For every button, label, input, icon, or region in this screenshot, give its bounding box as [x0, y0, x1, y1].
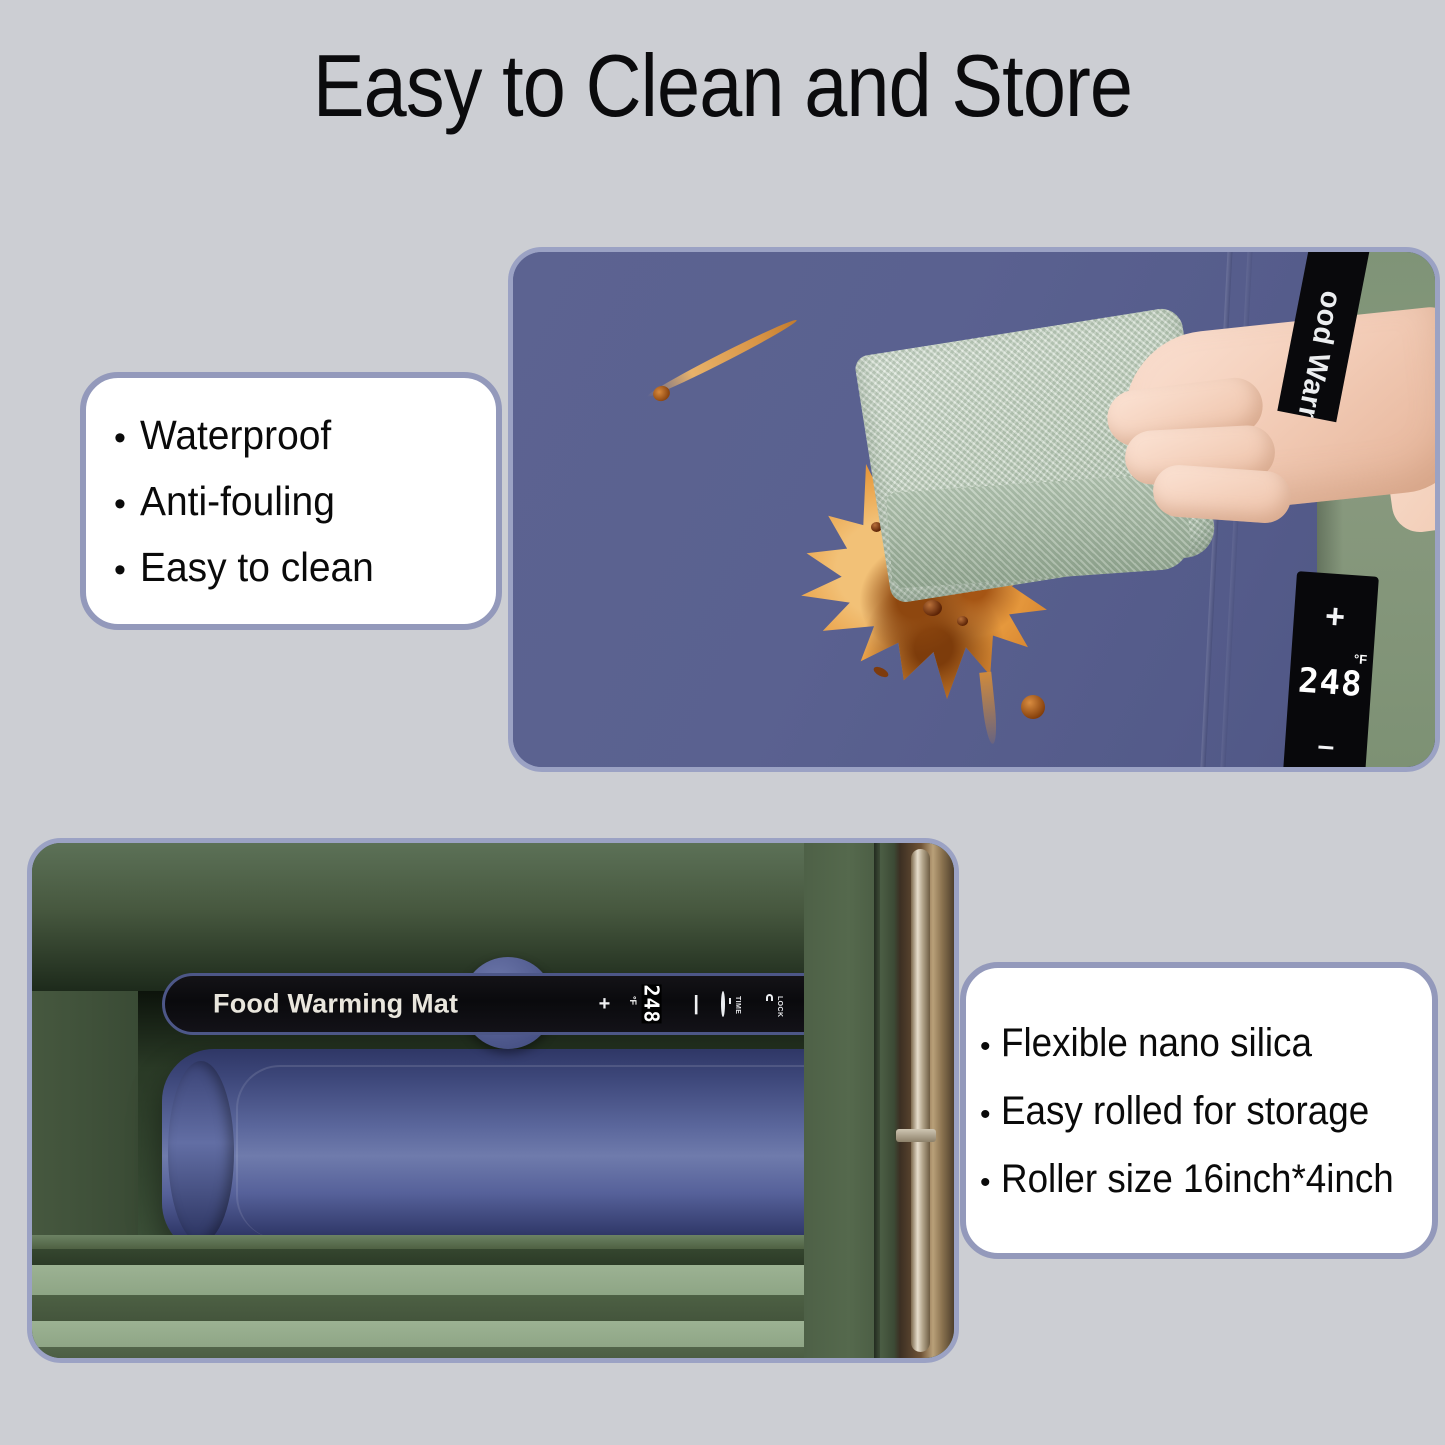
cabinet-door[interactable] — [804, 843, 954, 1358]
roll-end-cap — [168, 1061, 234, 1243]
bullet-icon: • — [114, 421, 126, 455]
page-title: Easy to Clean and Store — [87, 34, 1359, 138]
temperature-display-group: °F 248 — [632, 994, 671, 1014]
lock-icon: LOCK — [763, 994, 783, 1014]
temperature-display: 248 — [1292, 663, 1368, 702]
storage-photo: Food Warming Mat + °F 248 | TIME LOCK — [27, 838, 959, 1363]
list-item: • Roller size 16inch*4inch — [980, 1156, 1422, 1202]
splash-speck — [923, 600, 942, 616]
product-name-label: Food Warming Mat — [213, 989, 458, 1020]
temperature-display: 248 — [642, 984, 662, 1023]
clock-icon: TIME — [721, 994, 741, 1014]
timer-label: TIME — [734, 996, 741, 1014]
lock-button[interactable]: LOCK — [763, 994, 783, 1014]
bullet-icon: • — [114, 487, 126, 521]
splash-droplet — [1021, 695, 1045, 719]
cabinet-handle[interactable] — [911, 849, 930, 1352]
list-item: • Flexible nano silica — [980, 1020, 1422, 1066]
feature-label: Roller size 16inch*4inch — [1001, 1156, 1394, 1202]
feature-label: Anti-fouling — [140, 478, 335, 524]
features-storage-card: • Flexible nano silica • Easy rolled for… — [960, 962, 1438, 1259]
device-label-text: ood Warm — [1287, 288, 1347, 422]
temperature-unit: °F — [1353, 651, 1367, 667]
bullet-icon: • — [114, 553, 126, 587]
bullet-icon: • — [980, 1168, 991, 1198]
features-clean-card: • Waterproof • Anti-fouling • Easy to cl… — [80, 372, 502, 630]
increase-temperature-button[interactable]: + — [1293, 597, 1377, 637]
decrease-temperature-button[interactable]: – — [1284, 727, 1368, 767]
cleaning-demo-photo: ood Warm + 248 °F – — [508, 247, 1440, 772]
list-item: • Waterproof — [114, 412, 480, 458]
list-item: • Easy rolled for storage — [980, 1088, 1422, 1134]
timer-button[interactable]: TIME — [721, 994, 741, 1014]
control-icon-group[interactable]: + °F 248 | TIME LOCK — [599, 976, 825, 1032]
list-item: • Anti-fouling — [114, 478, 480, 524]
bullet-icon: • — [980, 1100, 991, 1130]
feature-label: Easy rolled for storage — [1001, 1088, 1369, 1134]
door-seam — [874, 843, 880, 1358]
hand-wiping — [1107, 296, 1440, 558]
decrease-temperature-button[interactable]: | — [693, 994, 699, 1014]
lock-label: LOCK — [776, 996, 783, 1017]
feature-label: Easy to clean — [140, 544, 374, 590]
temperature-control-panel[interactable]: + 248 °F – — [1282, 571, 1379, 772]
feature-label: Waterproof — [140, 412, 331, 458]
handle-bracket — [896, 1129, 936, 1142]
rolled-mat — [162, 1049, 852, 1255]
bullet-icon: • — [980, 1032, 991, 1062]
temperature-unit: °F — [628, 996, 637, 1005]
list-item: • Easy to clean — [114, 544, 480, 590]
splash-speck — [957, 616, 968, 626]
control-bar[interactable]: Food Warming Mat + °F 248 | TIME LOCK — [162, 973, 852, 1035]
finger — [1151, 463, 1292, 524]
roll-seam — [236, 1065, 838, 1239]
feature-label: Flexible nano silica — [1001, 1020, 1312, 1066]
increase-temperature-button[interactable]: + — [599, 994, 611, 1014]
cabinet-left-wall — [32, 991, 138, 1249]
